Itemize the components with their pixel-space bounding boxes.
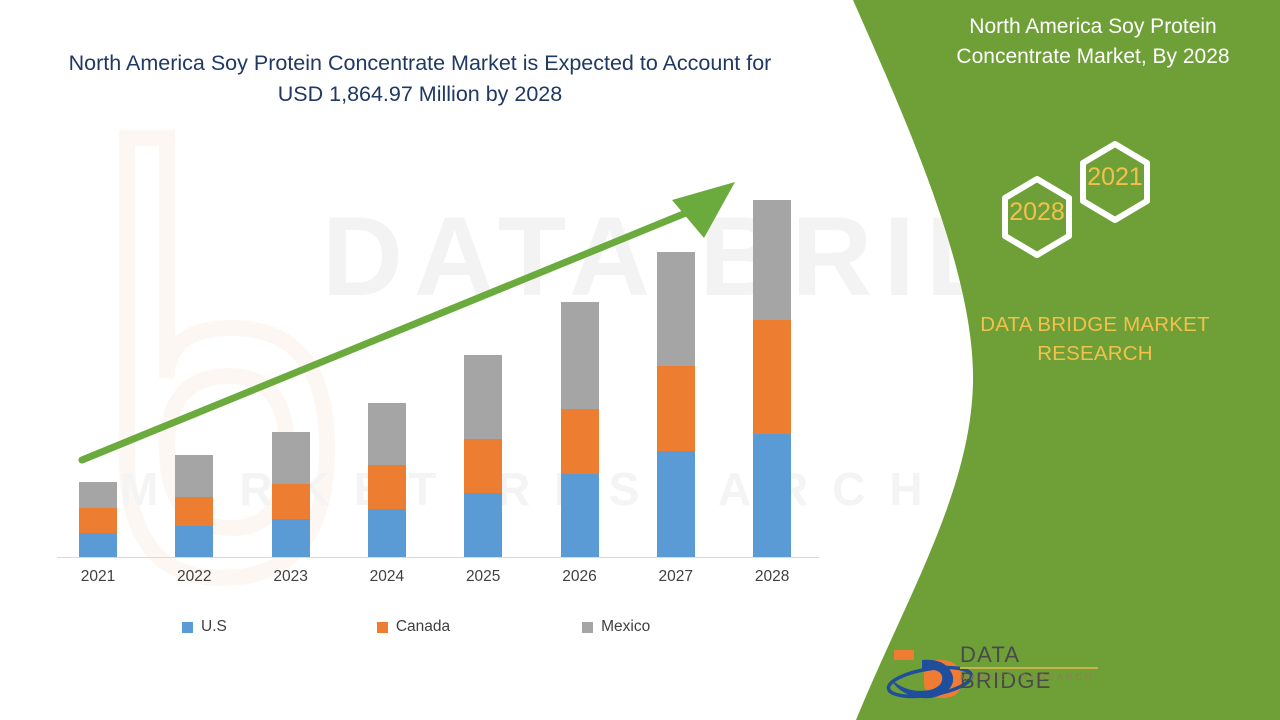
hexagon-badges: 2028 2021: [975, 128, 1180, 288]
svg-text:2028: 2028: [1009, 198, 1065, 226]
logo-divider: [960, 667, 1098, 669]
green-panel-heading: North America Soy Protein Concentrate Ma…: [928, 12, 1258, 72]
infographic-canvas: DATA BRIDGE MARKET RESEARCH North Americ…: [0, 0, 1280, 720]
svg-text:2021: 2021: [1087, 163, 1143, 191]
green-panel-brand: DATA BRIDGE MARKET RESEARCH: [940, 310, 1250, 368]
logo-tagline: MARKET RESEARCH: [960, 672, 1110, 682]
